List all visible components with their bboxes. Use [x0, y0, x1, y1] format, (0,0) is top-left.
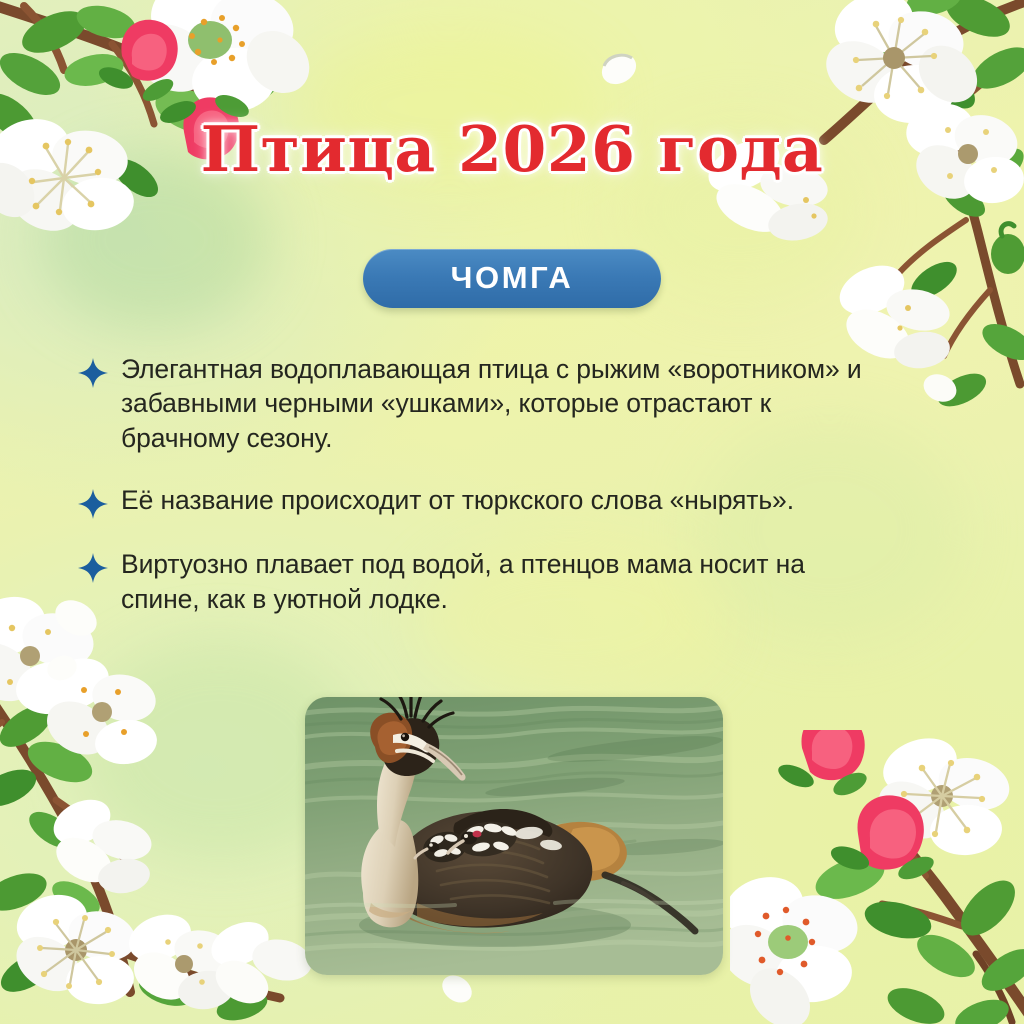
apple-blossom-bottom-left-icon: [0, 592, 320, 1024]
sparkle-star-icon: [78, 489, 108, 519]
facts-list: Элегантная водоплавающая птица с рыжим «…: [78, 352, 878, 616]
floating-petal-icon: [42, 648, 82, 688]
list-item: Виртуозно плавает под водой, а птенцов м…: [78, 547, 878, 616]
fact-text: Виртуозно плавает под водой, а птенцов м…: [121, 547, 878, 616]
list-item: Её название происходит от тюркского слов…: [78, 483, 878, 519]
fact-text: Её название происходит от тюркского слов…: [121, 483, 794, 517]
page-title: Птица 2026 года: [201, 112, 824, 186]
bird-photo: [305, 697, 723, 975]
sparkle-star-icon: [78, 553, 108, 583]
poster-canvas: Птица 2026 года ЧОМГА Элегантная водопла…: [0, 0, 1024, 1024]
floating-petal-icon: [918, 366, 962, 410]
fact-text: Элегантная водоплавающая птица с рыжим «…: [121, 352, 878, 455]
floating-petal-icon: [596, 46, 642, 92]
list-item: Элегантная водоплавающая птица с рыжим «…: [78, 352, 878, 455]
badge-container: ЧОМГА: [0, 249, 1024, 308]
apple-blossom-top-right-icon: [702, 0, 1024, 410]
title-container: Птица 2026 года: [0, 112, 1024, 186]
sparkle-star-icon: [78, 358, 108, 388]
species-name-badge: ЧОМГА: [363, 249, 661, 308]
apple-blossom-bottom-right-icon: [730, 730, 1024, 1024]
